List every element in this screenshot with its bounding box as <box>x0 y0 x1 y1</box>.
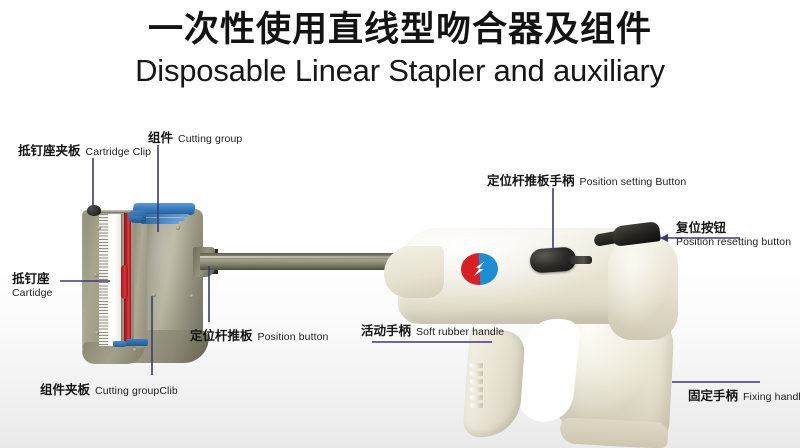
callout-fixing-handle-en: Fixing handle <box>743 391 800 403</box>
callout-cartridge-clip-cn: 抵钉座夹板 <box>18 144 81 158</box>
handle-rear-shell <box>608 232 678 340</box>
logo-arrow-icon <box>469 260 489 279</box>
callout-cutting-group-en: Cutting group <box>178 133 242 145</box>
trigger-ridge <box>470 379 483 384</box>
callout-position-setting-button: 定位杆推板手柄Position setting Button <box>487 172 686 190</box>
callout-cartridge-clip-en: Cartridge Clip <box>86 146 152 158</box>
callout-position-resetting-button-en: Position resetting button <box>676 236 791 248</box>
callout-position-button: 定位杆推板Position button <box>190 327 328 345</box>
screw-dot <box>176 226 180 230</box>
trigger-ridge <box>470 403 483 408</box>
anvil-knob <box>87 205 101 216</box>
callout-cartidge-cn: 抵钉座 <box>12 272 53 286</box>
cutting-group-clip-plate <box>134 214 147 348</box>
callout-soft-rubber-handle-en: Soft rubber handle <box>416 326 504 338</box>
callout-position-resetting-button: 复位按钮 Position resetting button <box>676 221 791 248</box>
callout-soft-rubber-handle: 活动手柄Soft rubber handle <box>361 322 504 340</box>
screw-dot <box>95 331 99 335</box>
handle-nose <box>384 246 444 298</box>
position-setting-knob-stem <box>570 256 592 264</box>
cartridge-staple-ticks <box>99 214 108 346</box>
callout-position-button-en: Position button <box>258 331 329 343</box>
trigger-ridge <box>470 371 483 376</box>
screw-dot <box>97 226 101 230</box>
screw-dot <box>190 294 194 298</box>
callout-position-setting-button-en: Position setting Button <box>580 176 687 188</box>
shaft-highlight <box>200 256 415 258</box>
callout-cutting-group-cn: 组件 <box>148 131 173 145</box>
blue-lower-clip-secondary <box>113 341 126 347</box>
callout-cutting-group-clib: 组件夹板Cutting groupClib <box>40 381 178 399</box>
trigger-ridge <box>470 387 483 392</box>
product-diagram-page: 一次性使用直线型吻合器及组件 Disposable Linear Stapler… <box>0 0 800 448</box>
fixing-handle-base <box>559 417 668 448</box>
blue-clip-tine <box>141 221 179 224</box>
callout-position-setting-button-cn: 定位杆推板手柄 <box>487 174 575 188</box>
trigger-ridge <box>470 363 483 368</box>
screw-dot <box>94 273 98 277</box>
blue-lower-clip <box>126 339 148 346</box>
trigger-ridge <box>470 395 483 400</box>
callout-cutting-group-clib-cn: 组件夹板 <box>40 383 90 397</box>
red-release-tab <box>121 265 128 299</box>
trigger-ridges <box>470 363 484 417</box>
callout-position-resetting-button-cn: 复位按钮 <box>676 221 791 235</box>
callout-cartidge-en: Cartidge <box>12 287 53 299</box>
callout-fixing-handle-cn: 固定手柄 <box>688 389 738 403</box>
callout-cutting-group: 组件Cutting group <box>148 129 242 147</box>
callout-fixing-handle: 固定手柄Fixing handle <box>688 387 800 405</box>
callout-cartidge: 抵钉座 Cartidge <box>12 272 53 299</box>
callout-cartridge-clip: 抵钉座夹板Cartridge Clip <box>18 142 151 160</box>
screw-dot <box>133 348 137 352</box>
callout-cutting-group-clib-en: Cutting groupClib <box>95 385 178 397</box>
screw-dot <box>152 293 156 297</box>
callout-position-button-cn: 定位杆推板 <box>190 329 253 343</box>
callout-soft-rubber-handle-cn: 活动手柄 <box>361 324 411 338</box>
